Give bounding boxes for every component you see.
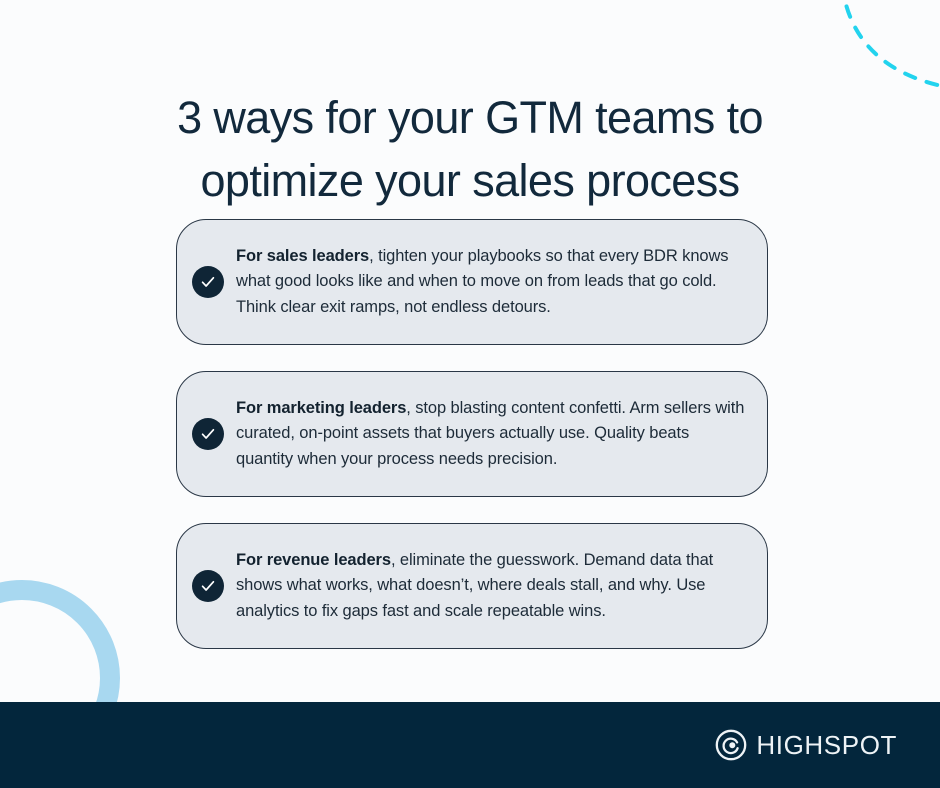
- list-item: For marketing leaders, stop blasting con…: [176, 371, 768, 497]
- list-item-lead: For marketing leaders: [236, 399, 406, 417]
- page-title-line-1: 3 ways for your GTM teams to: [0, 86, 940, 149]
- check-icon: [192, 418, 224, 450]
- list-item-lead: For revenue leaders: [236, 551, 391, 569]
- page-title: 3 ways for your GTM teams to optimize yo…: [0, 86, 940, 212]
- page-title-line-2: optimize your sales process: [0, 149, 940, 212]
- list-item: For revenue leaders, eliminate the guess…: [176, 523, 768, 649]
- highspot-circle-logo-icon: [715, 729, 747, 761]
- list-item-lead: For sales leaders: [236, 247, 369, 265]
- check-icon: [192, 266, 224, 298]
- infographic-canvas: 3 ways for your GTM teams to optimize yo…: [0, 0, 940, 788]
- check-icon: [192, 570, 224, 602]
- brand-wordmark: HIGHSPOT: [756, 730, 897, 761]
- brand-logo: HIGHSPOT: [715, 729, 897, 761]
- list-item-text: For revenue leaders, eliminate the guess…: [236, 548, 749, 625]
- list-item: For sales leaders, tighten your playbook…: [176, 219, 768, 345]
- list-item-text: For sales leaders, tighten your playbook…: [236, 244, 749, 321]
- footer-bar: HIGHSPOT: [0, 702, 940, 788]
- list-item-text: For marketing leaders, stop blasting con…: [236, 396, 749, 473]
- tips-list: For sales leaders, tighten your playbook…: [176, 219, 768, 649]
